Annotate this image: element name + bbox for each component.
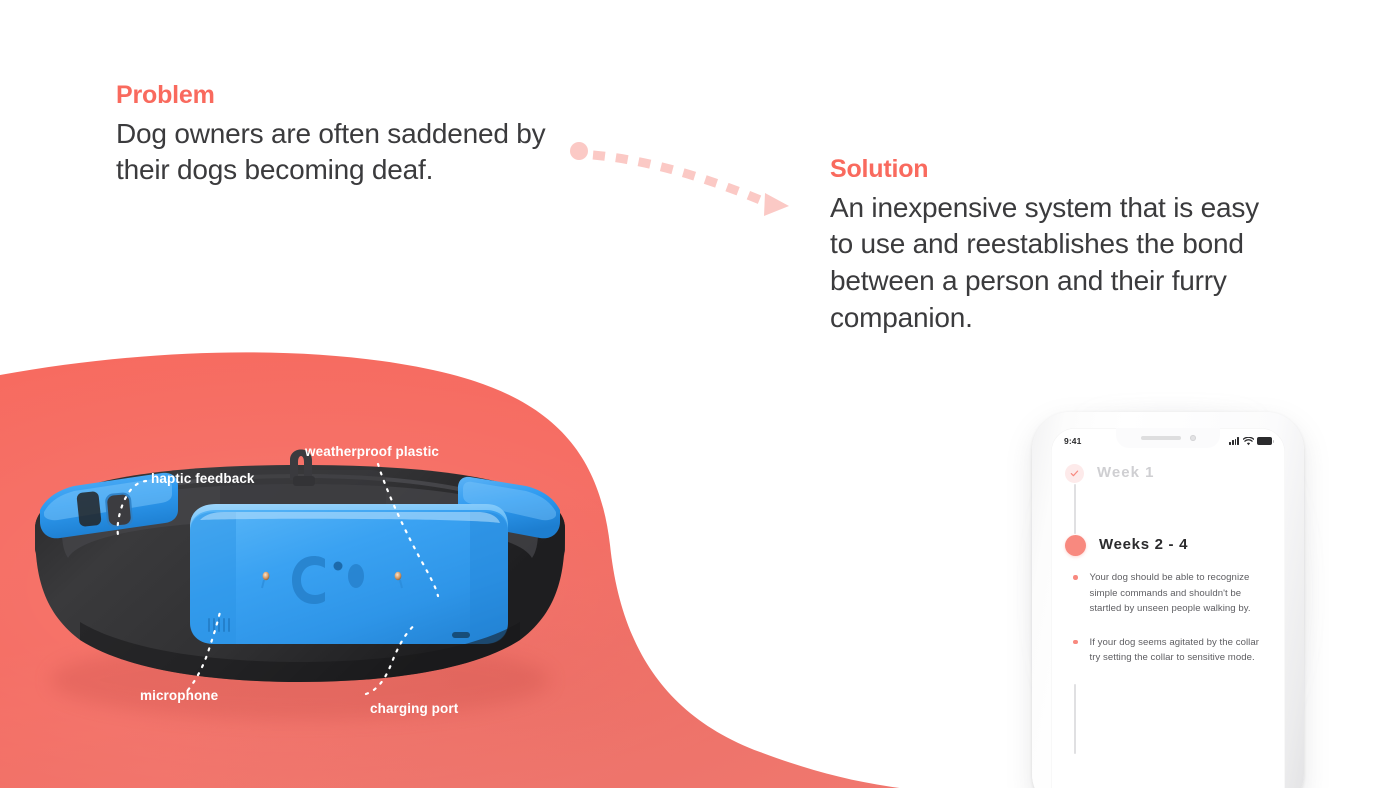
- timeline-connector-2: [1074, 684, 1076, 754]
- timeline-item-weeks-2-4[interactable]: Weeks 2 - 4: [1065, 534, 1271, 556]
- arrow-svg: [565, 135, 805, 225]
- slide-canvas: Problem Dog owners are often saddened by…: [0, 0, 1400, 788]
- solution-kicker: Solution: [830, 156, 1280, 184]
- status-bar: 9:41: [1051, 428, 1285, 454]
- arrow-head-icon: [764, 193, 789, 216]
- bullet-text-2: If your dog seems agitated by the collar…: [1090, 635, 1262, 666]
- callout-haptic-feedback: haptic feedback: [151, 471, 255, 486]
- bullet-text-1: Your dog should be able to recognize sim…: [1090, 570, 1262, 617]
- timeline-connector-1: [1074, 484, 1076, 534]
- callout-charging-port: charging port: [370, 701, 458, 716]
- battery-full-icon: [1257, 437, 1272, 445]
- wifi-icon: [1243, 437, 1254, 446]
- dashed-curved-arrow: [565, 135, 805, 225]
- solution-block: Solution An inexpensive system that is e…: [830, 156, 1280, 337]
- solution-body: An inexpensive system that is easy to us…: [830, 190, 1280, 338]
- timeline-bullet-list: Your dog should be able to recognize sim…: [1065, 570, 1271, 666]
- arrow-dashed-path: [593, 155, 770, 204]
- status-time: 9:41: [1064, 436, 1081, 446]
- status-indicators: [1229, 437, 1272, 446]
- timeline-title-weeks-2-4: Weeks 2 - 4: [1099, 534, 1188, 556]
- callout-weatherproof-plastic: weatherproof plastic: [305, 444, 439, 459]
- check-icon: [1065, 464, 1084, 483]
- timeline-item-week-1[interactable]: Week 1: [1065, 462, 1271, 484]
- phone-screen[interactable]: 9:41: [1051, 428, 1285, 788]
- training-timeline: Week 1 Weeks 2 - 4 Your dog should be ab…: [1051, 462, 1285, 754]
- bullet-dot-icon: [1073, 640, 1078, 645]
- cellular-bars-icon: [1229, 437, 1239, 445]
- problem-block: Problem Dog owners are often saddened by…: [116, 82, 586, 189]
- phone-mockup: 9:41: [1032, 412, 1304, 788]
- problem-kicker: Problem: [116, 82, 586, 110]
- list-item: Your dog should be able to recognize sim…: [1067, 570, 1271, 617]
- callout-microphone: microphone: [140, 688, 218, 703]
- bullet-dot-icon: [1073, 575, 1078, 580]
- timeline-title-week-1: Week 1: [1097, 462, 1154, 484]
- list-item: If your dog seems agitated by the collar…: [1067, 635, 1271, 666]
- arrow-start-dot: [570, 142, 588, 160]
- problem-body: Dog owners are often saddened by their d…: [116, 116, 586, 190]
- coral-background-shape: [0, 340, 1000, 788]
- filled-dot-icon: [1065, 535, 1086, 556]
